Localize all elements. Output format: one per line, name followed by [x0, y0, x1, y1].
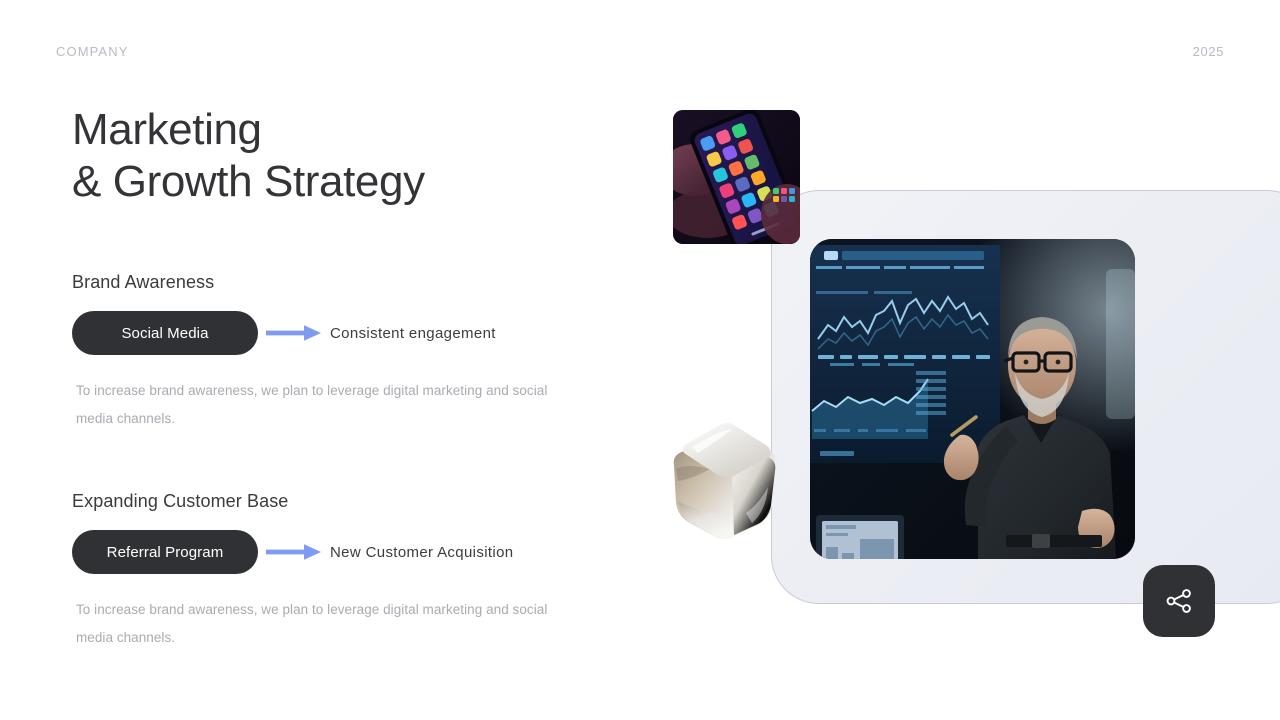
- phone-app-photo: [673, 110, 800, 244]
- share-icon: [1164, 586, 1194, 616]
- section-body-text: To increase brand awareness, we plan to …: [76, 377, 572, 433]
- section-body-text: To increase brand awareness, we plan to …: [76, 596, 572, 652]
- strategy-pill-social-media[interactable]: Social Media: [72, 311, 258, 355]
- strategy-row: Social Media Consistent engagement: [72, 311, 612, 355]
- section-heading: Brand Awareness: [72, 272, 612, 293]
- strategy-pill-referral-program[interactable]: Referral Program: [72, 530, 258, 574]
- header-company-label: COMPANY: [56, 44, 128, 59]
- strategy-outcome-label: New Customer Acquisition: [330, 544, 513, 561]
- strategy-row: Referral Program New Customer Acquisitio…: [72, 530, 612, 574]
- section-expanding-customer-base: Expanding Customer Base Referral Program…: [72, 491, 612, 652]
- section-brand-awareness: Brand Awareness Social Media Consistent …: [72, 272, 612, 433]
- strategy-outcome-label: Consistent engagement: [330, 325, 496, 342]
- arrow-right-icon: [258, 543, 330, 561]
- page-title: Marketing & Growth Strategy: [72, 104, 612, 208]
- share-button[interactable]: [1143, 565, 1215, 637]
- main-presenter-photo: [810, 239, 1135, 559]
- arrow-right-icon: [258, 324, 330, 342]
- metallic-cube-decoration: [662, 413, 792, 545]
- slide-root: COMPANY 2025 Marketing & Growth Strategy…: [0, 0, 1280, 720]
- section-heading: Expanding Customer Base: [72, 491, 612, 512]
- right-media-column: [640, 0, 1280, 720]
- left-content-column: Marketing & Growth Strategy Brand Awaren…: [72, 104, 612, 208]
